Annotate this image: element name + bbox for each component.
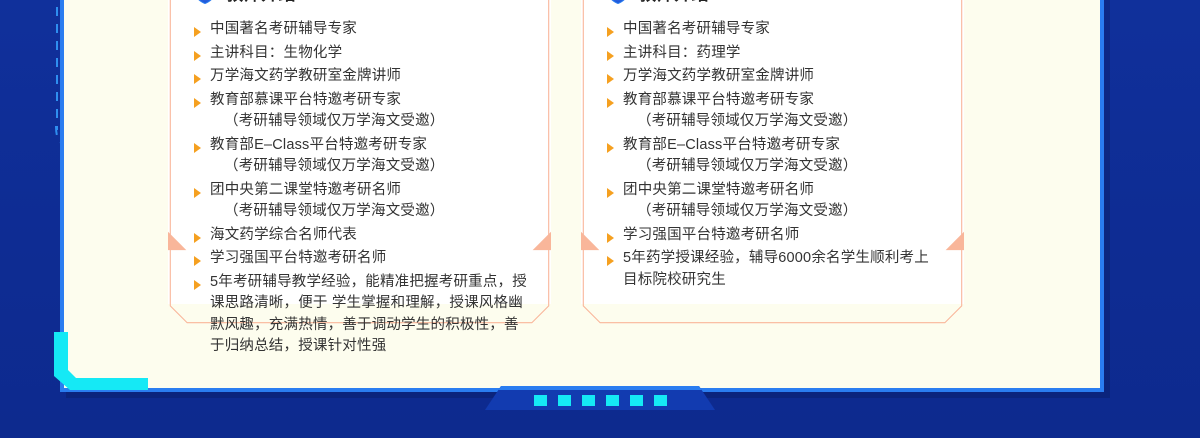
bullet-text: 主讲科目：药理学 (623, 43, 741, 65)
teacher-bullet-list: 中国著名考研辅导专家 主讲科目：生物化学 万学海文药学教研室金牌讲师 (194, 19, 527, 358)
bullet-main-text: 教育部慕课平台特邀考研专家 (623, 92, 814, 108)
bullet-arrow-icon (194, 143, 201, 153)
list-item: 海文药学综合名师代表 (194, 225, 527, 247)
bullet-sub-text: （考研辅导领域仅万学海文受邀） (623, 111, 858, 133)
card-header: 教师介绍 (607, 0, 940, 5)
card-title: 教师介绍 (639, 0, 709, 5)
notch-dot (558, 395, 571, 406)
list-item: 万学海文药学教研室金牌讲师 (607, 66, 940, 88)
card-header: 教师介绍 (194, 0, 527, 5)
list-item: 团中央第二课堂特邀考研名师 （考研辅导领域仅万学海文受邀） (607, 180, 940, 223)
bullet-text: 学习强国平台特邀考研名师 (210, 248, 386, 270)
list-item: 万学海文药学教研室金牌讲师 (194, 66, 527, 88)
bullet-text: 主讲科目：生物化学 (210, 43, 342, 65)
shield-badge-icon (194, 0, 216, 5)
list-item: 教育部E–Class平台特邀考研专家 （考研辅导领域仅万学海文受邀） (607, 135, 940, 178)
bullet-arrow-icon (194, 98, 201, 108)
bullet-sub-text: （考研辅导领域仅万学海文受邀） (210, 156, 445, 178)
bullet-sub-text: （考研辅导领域仅万学海文受邀） (210, 201, 445, 223)
bullet-text: 中国著名考研辅导专家 (623, 19, 770, 41)
bullet-text: 教育部慕课平台特邀考研专家 （考研辅导领域仅万学海文受邀） (210, 90, 445, 133)
bullet-main-text: 团中央第二课堂特邀考研名师 (210, 182, 401, 198)
teacher-card: 教师介绍 中国著名考研辅导专家 主讲科目：药理学 (581, 0, 964, 304)
list-item: 5年药学授课经验，辅导6000余名学生顺利考上目标院校研究生 (607, 248, 940, 291)
notch-dot (630, 395, 643, 406)
bullet-arrow-icon (607, 27, 614, 37)
list-item: 学习强国平台特邀考研名师 (194, 248, 527, 270)
bullet-arrow-icon (607, 74, 614, 84)
list-item: 团中央第二课堂特邀考研名师 （考研辅导领域仅万学海文受邀） (194, 180, 527, 223)
bullet-arrow-icon (194, 51, 201, 61)
notch-dot (582, 395, 595, 406)
bullet-main-text: 教育部E–Class平台特邀考研专家 (623, 137, 840, 153)
bullet-arrow-icon (194, 74, 201, 84)
bullet-arrow-icon (194, 27, 201, 37)
list-item: 主讲科目：生物化学 (194, 43, 527, 65)
card-body: 教师介绍 中国著名考研辅导专家 主讲科目：生物化学 (188, 0, 533, 304)
bullet-text: 5年药学授课经验，辅导6000余名学生顺利考上目标院校研究生 (623, 248, 940, 291)
card-body: 教师介绍 中国著名考研辅导专家 主讲科目：药理学 (601, 0, 946, 304)
shield-badge-icon (607, 0, 629, 5)
bullet-text: 万学海文药学教研室金牌讲师 (623, 66, 814, 88)
bullet-text: 中国著名考研辅导专家 (210, 19, 357, 41)
bullet-arrow-icon (607, 188, 614, 198)
teacher-card: 教师介绍 中国著名考研辅导专家 主讲科目：生物化学 (168, 0, 551, 304)
bullet-arrow-icon (194, 233, 201, 243)
notch-dot (534, 395, 547, 406)
notch-dot (606, 395, 619, 406)
bullet-text: 教育部慕课平台特邀考研专家 （考研辅导领域仅万学海文受邀） (623, 90, 858, 133)
list-item: 中国著名考研辅导专家 (194, 19, 527, 41)
bullet-text: 万学海文药学教研室金牌讲师 (210, 66, 401, 88)
teacher-cards-row: 教师介绍 中国著名考研辅导专家 主讲科目：生物化学 (168, 0, 964, 304)
teacher-bullet-list: 中国著名考研辅导专家 主讲科目：药理学 万学海文药学教研室金牌讲师 (607, 19, 940, 291)
bullet-arrow-icon (194, 280, 201, 290)
bullet-text: 教育部E–Class平台特邀考研专家 （考研辅导领域仅万学海文受邀） (210, 135, 445, 178)
list-item: 教育部E–Class平台特邀考研专家 （考研辅导领域仅万学海文受邀） (194, 135, 527, 178)
bullet-sub-text: （考研辅导领域仅万学海文受邀） (623, 156, 858, 178)
bottom-notch (485, 386, 715, 410)
bullet-arrow-icon (194, 256, 201, 266)
bullet-arrow-icon (607, 143, 614, 153)
bullet-text: 教育部E–Class平台特邀考研专家 （考研辅导领域仅万学海文受邀） (623, 135, 858, 178)
bullet-sub-text: （考研辅导领域仅万学海文受邀） (210, 111, 445, 133)
bullet-text: 团中央第二课堂特邀考研名师 （考研辅导领域仅万学海文受邀） (623, 180, 858, 223)
card-title: 教师介绍 (226, 0, 296, 5)
content-sheet: 教师介绍 中国著名考研辅导专家 主讲科目：生物化学 (60, 0, 1104, 392)
bullet-arrow-icon (607, 256, 614, 266)
bullet-arrow-icon (607, 98, 614, 108)
bullet-main-text: 团中央第二课堂特邀考研名师 (623, 182, 814, 198)
bullet-main-text: 教育部慕课平台特邀考研专家 (210, 92, 401, 108)
bullet-text: 5年考研辅导教学经验，能精准把握考研重点，授课思路清晰，便于 学生掌握和理解，授… (210, 272, 527, 358)
list-item: 教育部慕课平台特邀考研专家 （考研辅导领域仅万学海文受邀） (194, 90, 527, 133)
list-item: 中国著名考研辅导专家 (607, 19, 940, 41)
bullet-arrow-icon (607, 51, 614, 61)
list-item: 5年考研辅导教学经验，能精准把握考研重点，授课思路清晰，便于 学生掌握和理解，授… (194, 272, 527, 358)
list-item: 学习强国平台特邀考研名师 (607, 225, 940, 247)
page-background: 教师介绍 中国著名考研辅导专家 主讲科目：生物化学 (0, 0, 1200, 438)
bullet-arrow-icon (194, 188, 201, 198)
list-item: 主讲科目：药理学 (607, 43, 940, 65)
bullet-sub-text: （考研辅导领域仅万学海文受邀） (623, 201, 858, 223)
bullet-text: 海文药学综合名师代表 (210, 225, 357, 247)
cyan-corner-bracket (52, 332, 148, 394)
list-item: 教育部慕课平台特邀考研专家 （考研辅导领域仅万学海文受邀） (607, 90, 940, 133)
bullet-text: 学习强国平台特邀考研名师 (623, 225, 799, 247)
bullet-text: 团中央第二课堂特邀考研名师 （考研辅导领域仅万学海文受邀） (210, 180, 445, 223)
bullet-arrow-icon (607, 233, 614, 243)
notch-dot (654, 395, 667, 406)
bullet-main-text: 教育部E–Class平台特邀考研专家 (210, 137, 427, 153)
dashed-guide-line (56, 0, 58, 130)
